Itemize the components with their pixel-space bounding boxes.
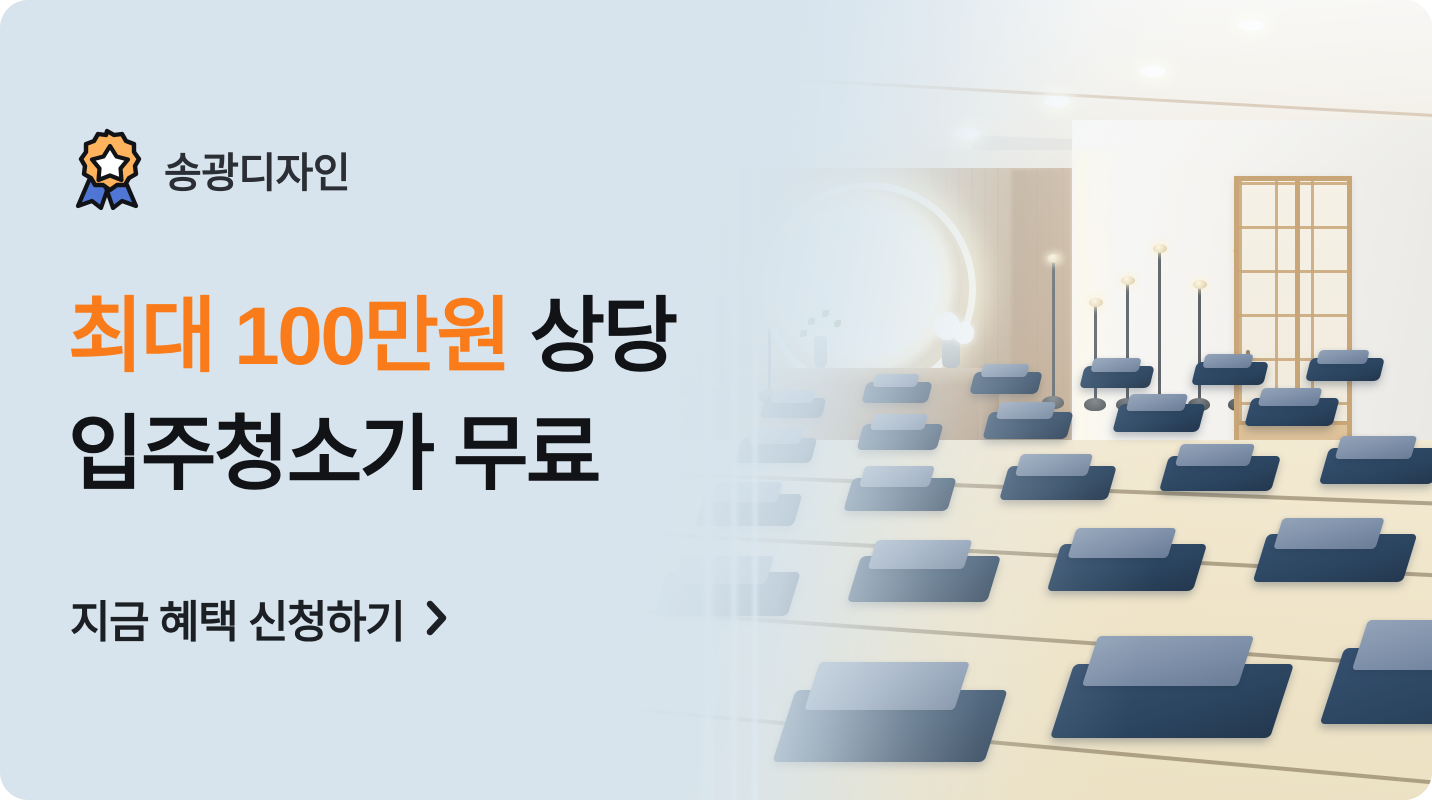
folded-blanket: [859, 466, 935, 487]
floor-lamp-pole: [1052, 260, 1055, 398]
floor-lamp-light-icon: [1193, 280, 1207, 289]
folded-blanket: [1067, 528, 1176, 558]
folded-blanket: [1316, 350, 1369, 364]
floor-lamp-pole: [768, 326, 771, 392]
chevron-right-icon: [424, 599, 450, 637]
tatami-seam: [642, 692, 1432, 800]
floor-lamp-light-icon: [1121, 276, 1135, 285]
folded-blanket: [1126, 394, 1189, 411]
vase: [942, 340, 960, 368]
folded-blanket: [770, 390, 815, 403]
headline-accent: 최대 100만원: [68, 291, 509, 382]
folded-blanket: [804, 662, 970, 710]
greenery-icon: [834, 320, 841, 327]
folded-blanket: [1082, 636, 1254, 686]
award-badge-icon: [70, 128, 146, 210]
floor-lamp-light-icon: [1153, 244, 1167, 253]
floor-lamp-pole: [1158, 250, 1161, 400]
floor-lamp-base: [1084, 398, 1106, 411]
flower: [864, 336, 880, 354]
promo-banner[interactable]: 송광디자인 최대 100만원 상당 입주청소가 무료 지금 혜택 신청하기: [0, 0, 1432, 800]
downlight-icon: [1238, 20, 1264, 31]
folded-blanket: [980, 364, 1029, 377]
folded-blanket: [1202, 354, 1253, 368]
vase: [814, 336, 827, 368]
headline-line-2: 입주청소가 무료: [68, 396, 768, 514]
greenery-icon: [800, 330, 807, 337]
folded-blanket: [1273, 518, 1384, 549]
folded-blanket: [996, 402, 1057, 419]
banner-content: 송광디자인 최대 100만원 상당 입주청소가 무료 지금 혜택 신청하기: [0, 0, 760, 800]
headline: 최대 100만원 상당 입주청소가 무료: [68, 278, 768, 514]
cta-label: 지금 혜택 신청하기: [70, 586, 404, 650]
downlight-icon: [1044, 96, 1070, 107]
downlight-icon: [954, 128, 980, 139]
brand-name: 송광디자인: [164, 139, 350, 199]
headline-line-1: 최대 100만원 상당: [68, 278, 768, 396]
greenery-icon: [822, 310, 829, 317]
folded-blanket: [1175, 444, 1255, 466]
headline-line-1-rest: 상당: [509, 291, 675, 382]
floor-lamp-light-icon: [1047, 254, 1061, 263]
brand-row: 송광디자인: [70, 128, 350, 210]
downlight-icon: [1140, 66, 1166, 77]
cta-link[interactable]: 지금 혜택 신청하기: [70, 586, 450, 650]
folded-blanket: [1335, 436, 1418, 459]
folded-blanket: [868, 540, 973, 569]
floor-lamp-light-icon: [1089, 298, 1103, 307]
folded-blanket: [1258, 388, 1323, 406]
folded-blanket: [1015, 454, 1093, 476]
greenery-icon: [808, 318, 815, 325]
folded-blanket: [870, 414, 928, 430]
folded-blanket: [872, 374, 919, 387]
folded-blanket: [1090, 358, 1141, 372]
flower: [954, 322, 974, 344]
